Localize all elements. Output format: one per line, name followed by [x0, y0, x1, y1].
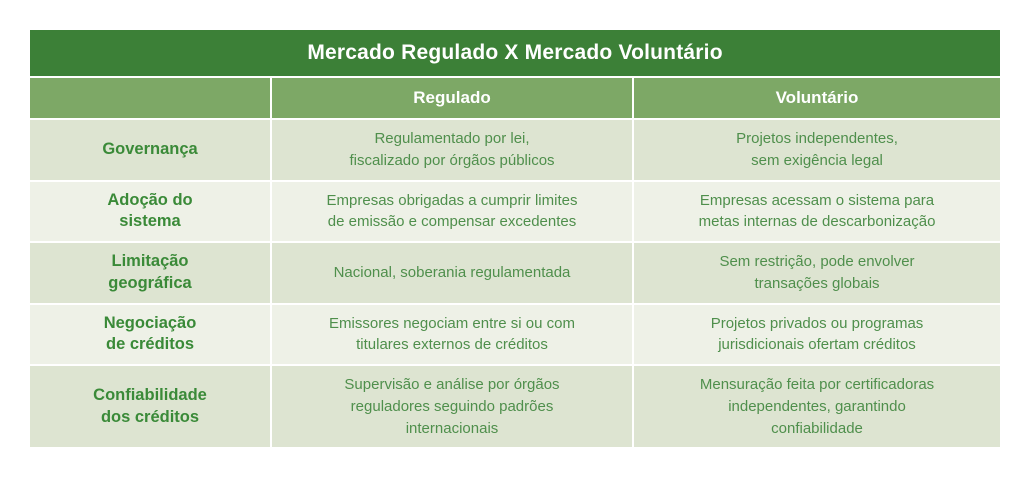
cell-governanca-voluntario: Projetos independentes,sem exigência leg… — [634, 120, 1000, 180]
cell-limitacao-geografica-voluntario: Sem restrição, pode envolvertransações g… — [634, 243, 1000, 303]
cell-governanca-regulado: Regulamentado por lei,fiscalizado por ór… — [272, 120, 632, 180]
cell-negociacao-de-creditos-regulado: Emissores negociam entre si ou comtitula… — [272, 305, 632, 365]
row-label-confiabilidade-dos-creditos: Confiabilidadedos créditos — [30, 366, 270, 447]
cell-negociacao-de-creditos-voluntario: Projetos privados ou programasjurisdicio… — [634, 305, 1000, 365]
table-column-header-row: Regulado Voluntário — [30, 78, 1000, 118]
cell-limitacao-geografica-regulado: Nacional, soberania regulamentada — [272, 243, 632, 303]
row-label-adocao-do-sistema: Adoção dosistema — [30, 182, 270, 242]
row-label-negociacao-de-creditos: Negociaçãode créditos — [30, 305, 270, 365]
column-header-regulado: Regulado — [272, 78, 632, 118]
table-title-row: Mercado Regulado X Mercado Voluntário — [30, 30, 1000, 76]
table-row: Negociaçãode créditos Emissores negociam… — [30, 305, 1000, 365]
cell-adocao-do-sistema-voluntario: Empresas acessam o sistema parametas int… — [634, 182, 1000, 242]
table-row: Adoção dosistema Empresas obrigadas a cu… — [30, 182, 1000, 242]
table-row: Limitaçãogeográfica Nacional, soberania … — [30, 243, 1000, 303]
column-header-blank — [30, 78, 270, 118]
cell-adocao-do-sistema-regulado: Empresas obrigadas a cumprir limitesde e… — [272, 182, 632, 242]
table-row: Governança Regulamentado por lei,fiscali… — [30, 120, 1000, 180]
cell-confiabilidade-dos-creditos-voluntario: Mensuração feita por certificadorasindep… — [634, 366, 1000, 447]
row-label-governanca: Governança — [30, 120, 270, 180]
comparison-table: Mercado Regulado X Mercado Voluntário Re… — [28, 28, 1002, 449]
table-title: Mercado Regulado X Mercado Voluntário — [30, 30, 1000, 76]
row-label-limitacao-geografica: Limitaçãogeográfica — [30, 243, 270, 303]
cell-confiabilidade-dos-creditos-regulado: Supervisão e análise por órgãosregulador… — [272, 366, 632, 447]
table-row: Confiabilidadedos créditos Supervisão e … — [30, 366, 1000, 447]
column-header-voluntario: Voluntário — [634, 78, 1000, 118]
